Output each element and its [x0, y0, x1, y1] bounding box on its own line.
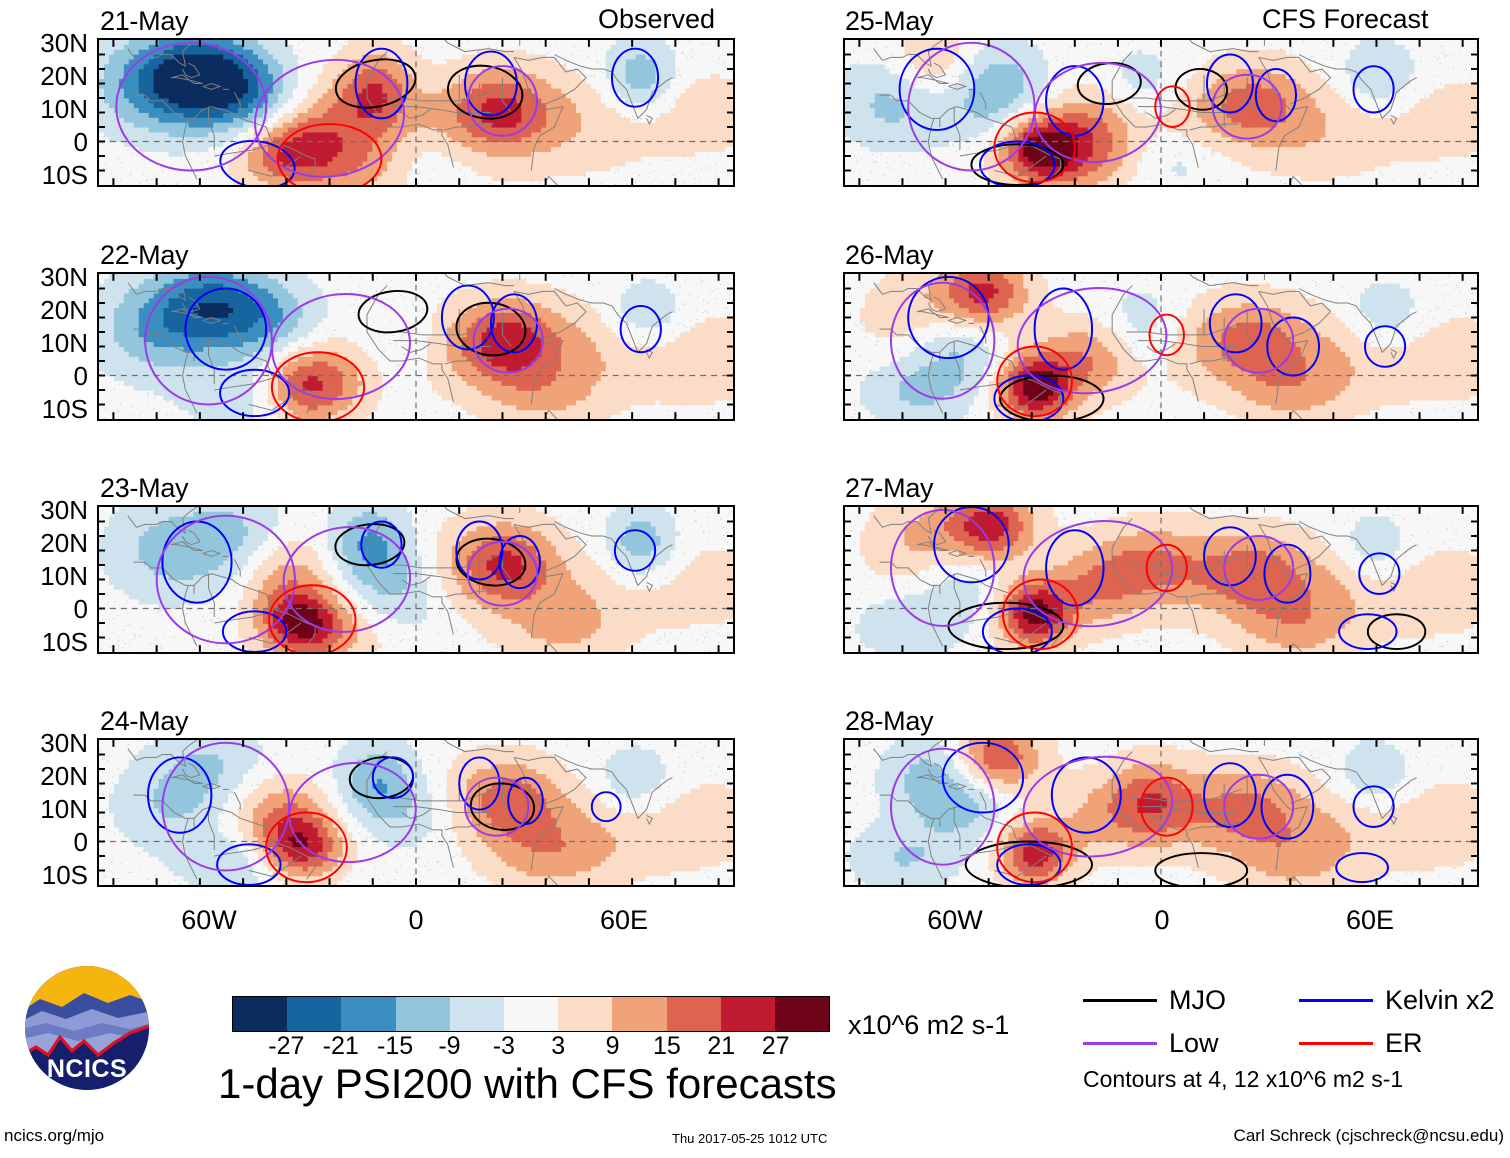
colorbar-cell-6 — [558, 997, 612, 1031]
panel-grid: Observed CFS Forecast 21-May 30N 20N 10N… — [0, 0, 1510, 900]
legend-label-kelvin: Kelvin x2 — [1385, 985, 1495, 1016]
y-axis-labels-row2: 30N 20N 10N 0 10S — [0, 264, 88, 429]
colorbar-cell-3 — [396, 997, 450, 1031]
colorbar-tick-labels: -27-21-15-9-339152127 — [232, 1032, 830, 1062]
colorbar-tick-3: -9 — [438, 1032, 460, 1061]
plot-area-27-may[interactable] — [843, 505, 1479, 654]
colorbar-tick-6: 9 — [606, 1032, 620, 1061]
column-title-observed: Observed — [598, 4, 715, 35]
plot-canvas-28-may — [845, 740, 1477, 885]
plot-canvas-25-may — [845, 40, 1477, 185]
colorbar-cell-0 — [233, 997, 287, 1031]
plot-canvas-24-may — [99, 740, 733, 885]
colorbar-cell-7 — [612, 997, 666, 1031]
colorbar-tick-7: 15 — [653, 1032, 681, 1061]
legend-line-low-icon — [1083, 1042, 1157, 1045]
legend-line-kelvin-icon — [1299, 999, 1373, 1002]
legend-item-mjo: MJO — [1083, 985, 1226, 1016]
ncics-logo: NCICS — [22, 963, 152, 1093]
legend-label-er: ER — [1385, 1028, 1423, 1059]
legend-line-er-icon — [1299, 1042, 1373, 1045]
plot-canvas-27-may — [845, 507, 1477, 652]
y-axis-labels-row3: 30N 20N 10N 0 10S — [0, 497, 88, 662]
colorbar-tick-5: 3 — [551, 1032, 565, 1061]
colorbar-cell-8 — [667, 997, 721, 1031]
colorbar-units-label: x10^6 m2 s-1 — [848, 1010, 1009, 1041]
panel-title-27-may: 27-May — [845, 473, 933, 504]
colorbar-tick-1: -21 — [323, 1032, 359, 1061]
colorbar-cell-4 — [450, 997, 504, 1031]
colorbar-cell-1 — [287, 997, 341, 1031]
panel-title-22-may: 22-May — [100, 240, 188, 271]
panel-title-23-may: 23-May — [100, 473, 188, 504]
legend-line-mjo-icon — [1083, 999, 1157, 1002]
colorbar-tick-4: -3 — [493, 1032, 515, 1061]
panel-title-21-may: 21-May — [100, 6, 188, 37]
colorbar-tick-8: 21 — [707, 1032, 735, 1061]
site-url[interactable]: ncics.org/mjo — [4, 1126, 104, 1146]
colorbar-tick-0: -27 — [268, 1032, 304, 1061]
plot-canvas-23-may — [99, 507, 733, 652]
plot-area-22-may[interactable] — [97, 272, 735, 421]
plot-canvas-21-may — [99, 40, 733, 185]
colorbar — [232, 996, 830, 1032]
ncics-logo-icon: NCICS — [22, 963, 152, 1093]
plot-area-28-may[interactable] — [843, 738, 1479, 887]
timestamp: Thu 2017-05-25 1012 UTC — [672, 1131, 827, 1146]
panel-title-26-may: 26-May — [845, 240, 933, 271]
legend-item-er: ER — [1299, 1028, 1423, 1059]
colorbar-strip — [232, 996, 830, 1032]
column-title-forecast: CFS Forecast — [1262, 4, 1429, 35]
panel-title-24-may: 24-May — [100, 706, 188, 737]
legend-label-low: Low — [1169, 1028, 1219, 1059]
panel-title-25-may: 25-May — [845, 6, 933, 37]
colorbar-cell-9 — [721, 997, 775, 1031]
y-axis-labels-row1: 30N 20N 10N 0 10S — [0, 30, 88, 195]
main-title: 1-day PSI200 with CFS forecasts — [218, 1060, 837, 1108]
contours-note: Contours at 4, 12 x10^6 m2 s-1 — [1083, 1066, 1403, 1093]
colorbar-cell-5 — [504, 997, 558, 1031]
y-axis-labels-row4: 30N 20N 10N 0 10S — [0, 730, 88, 895]
plot-area-25-may[interactable] — [843, 38, 1479, 187]
author-credit[interactable]: Carl Schreck (cjschreck@ncsu.edu) — [1234, 1126, 1504, 1146]
plot-canvas-26-may — [845, 274, 1477, 419]
colorbar-tick-9: 27 — [762, 1032, 790, 1061]
legend-item-kelvin: Kelvin x2 — [1299, 985, 1495, 1016]
plot-area-24-may[interactable] — [97, 738, 735, 887]
plot-canvas-22-may — [99, 274, 733, 419]
plot-area-21-may[interactable] — [97, 38, 735, 187]
colorbar-cell-10 — [775, 997, 829, 1031]
legend-item-low: Low — [1083, 1028, 1219, 1059]
plot-area-26-may[interactable] — [843, 272, 1479, 421]
panel-title-28-may: 28-May — [845, 706, 933, 737]
legend-label-mjo: MJO — [1169, 985, 1226, 1016]
colorbar-tick-2: -15 — [377, 1032, 413, 1061]
colorbar-cell-2 — [341, 997, 395, 1031]
plot-area-23-may[interactable] — [97, 505, 735, 654]
